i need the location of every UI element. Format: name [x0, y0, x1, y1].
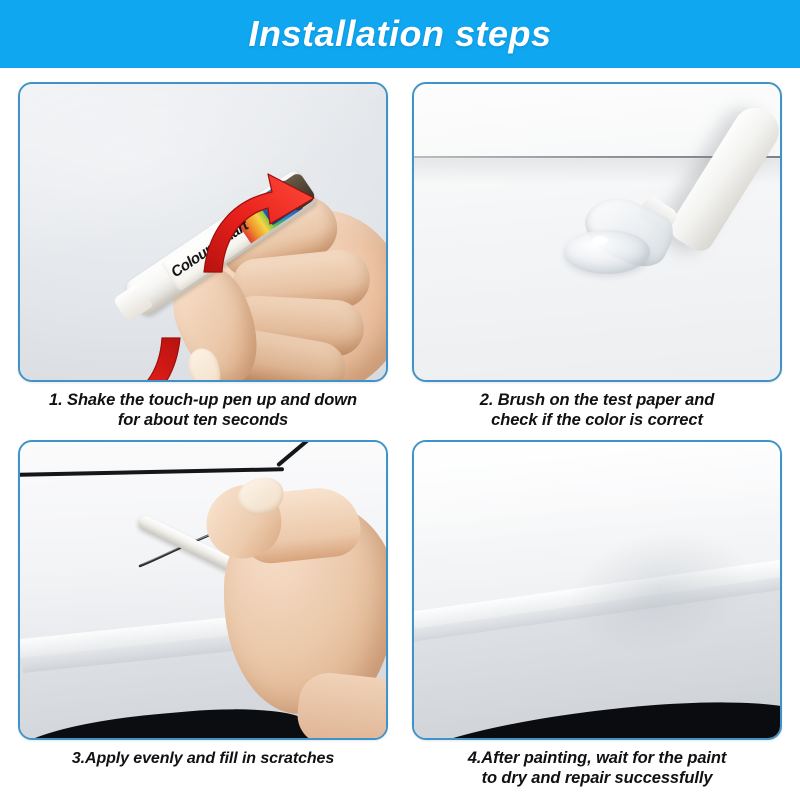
paint-highlight — [592, 236, 608, 245]
caption-line: to dry and repair successfully — [412, 769, 782, 789]
caption-line: check if the color is correct — [412, 411, 782, 431]
header-banner: Installation steps — [0, 0, 800, 68]
step-2-caption: 2. Brush on the test paper and check if … — [412, 391, 782, 431]
caption-line: 4.After painting, wait for the paint — [412, 749, 782, 769]
step-3-photo — [18, 440, 388, 740]
step-3-caption: 3.Apply evenly and fill in scratches — [18, 749, 388, 768]
step-2-photo — [412, 82, 782, 382]
caption-line: 1. Shake the touch-up pen up and down — [18, 391, 388, 411]
caption-line: 3.Apply evenly and fill in scratches — [18, 749, 388, 768]
caption-line: for about ten seconds — [18, 411, 388, 431]
arrow-down-left-icon — [66, 334, 186, 382]
caption-line: 2. Brush on the test paper and — [412, 391, 782, 411]
step-1-caption: 1. Shake the touch-up pen up and down fo… — [18, 391, 388, 431]
step-4-caption: 4.After painting, wait for the paint to … — [412, 749, 782, 789]
arrow-up-right-icon — [198, 172, 318, 276]
step-card-1: Colour Smart — [18, 82, 388, 400]
step-1-photo: Colour Smart — [18, 82, 388, 382]
paint-drop — [564, 230, 650, 274]
step-card-3: 3.Apply evenly and fill in scratches — [18, 440, 388, 758]
wrist — [295, 670, 388, 740]
step-4-photo — [412, 440, 782, 740]
page-title: Installation steps — [248, 13, 551, 55]
step-card-2: 2. Brush on the test paper and check if … — [412, 82, 782, 400]
step-card-4: 4.After painting, wait for the paint to … — [412, 440, 782, 758]
steps-grid: Colour Smart — [0, 68, 800, 792]
installation-steps-infographic: Installation steps — [0, 0, 800, 792]
hand-applying-pen — [202, 480, 388, 740]
